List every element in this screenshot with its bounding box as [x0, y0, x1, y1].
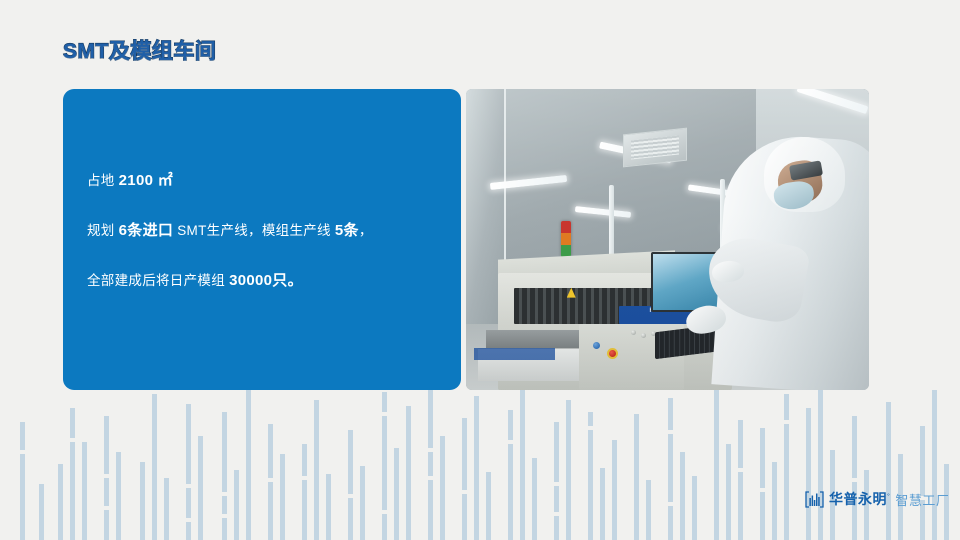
decor-bar — [508, 410, 513, 540]
decor-bar — [20, 422, 25, 540]
decor-bar — [406, 406, 411, 540]
decor-bar — [566, 400, 571, 540]
decor-bar — [520, 390, 525, 540]
info-line-1: 占地 2100 ㎡ — [87, 173, 447, 189]
decor-bar-gap — [104, 506, 109, 510]
decor-bar — [348, 430, 353, 540]
decor-bar-gap — [382, 510, 387, 514]
logo-brand-text: 华普永明° — [829, 489, 890, 509]
decor-bar — [588, 412, 593, 540]
decor-bar — [326, 474, 331, 540]
decor-bar — [714, 390, 719, 540]
decor-bar — [806, 408, 811, 540]
decor-bar — [82, 442, 87, 540]
decor-bar-gap — [70, 438, 75, 442]
decor-bar — [634, 414, 639, 540]
decor-bar — [932, 390, 937, 540]
decor-bar-gap — [20, 450, 25, 454]
decor-bar — [852, 416, 857, 540]
decor-bar-gap — [852, 478, 857, 482]
decor-bar-gap — [554, 512, 559, 516]
footer-logo: 华普永明° 智慧工厂 — [805, 489, 949, 509]
decor-bar-gap — [588, 426, 593, 430]
decor-bar-gap — [348, 494, 353, 498]
decor-bar-gap — [462, 490, 467, 494]
decor-bar — [268, 424, 273, 540]
decor-bar — [394, 448, 399, 540]
decor-bar — [58, 464, 63, 540]
decor-bar — [198, 436, 203, 540]
photo-haze-overlay — [466, 89, 869, 390]
decor-bar — [382, 392, 387, 540]
decor-bar — [280, 454, 285, 540]
decor-bar-gap — [760, 488, 765, 492]
decor-bar — [314, 400, 319, 540]
decor-bar — [462, 418, 467, 540]
decor-bar-gap — [554, 482, 559, 486]
decor-bar — [116, 452, 121, 540]
decor-bar-gap — [186, 518, 191, 522]
decor-bar — [920, 426, 925, 540]
cleanroom-photo: HELLER — [466, 89, 869, 390]
decor-bar-gap — [382, 412, 387, 416]
decor-bar — [474, 396, 479, 540]
decor-bar — [234, 470, 239, 540]
decor-bar — [246, 390, 251, 540]
decor-bar — [738, 420, 743, 540]
info-line-2: 规划 6条进口 SMT生产线，模组生产线 5条， — [87, 223, 447, 239]
decor-bar — [186, 404, 191, 540]
decor-bar-gap — [222, 492, 227, 496]
decor-bar — [600, 468, 605, 540]
decor-bar — [646, 480, 651, 540]
logo-brand-name: 华普永明 — [829, 491, 887, 507]
decor-bar — [886, 402, 891, 540]
decor-bar-gap — [104, 474, 109, 478]
decorative-bar-pattern — [0, 390, 960, 540]
decor-bar — [70, 408, 75, 540]
page-title: SMT及模组车间 — [63, 35, 216, 65]
decor-bar — [818, 390, 823, 540]
decor-bar-gap — [302, 476, 307, 480]
decor-bar-gap — [738, 468, 743, 472]
decor-bar-gap — [428, 448, 433, 452]
decor-bar-gap — [784, 420, 789, 424]
decor-bar — [428, 390, 433, 540]
decor-bar — [164, 478, 169, 540]
bracketed-bars-logo-icon — [805, 491, 824, 508]
decor-bar-gap — [668, 502, 673, 506]
decor-bar-gap — [428, 476, 433, 480]
decor-bar-gap — [668, 430, 673, 434]
decor-bar — [612, 440, 617, 540]
decor-bar — [39, 484, 44, 540]
logo-registered-mark: ° — [887, 493, 890, 500]
slide-canvas: SMT及模组车间 占地 2100 ㎡ 规划 6条进口 SMT生产线，模组生产线 … — [0, 0, 960, 540]
decor-bar — [668, 398, 673, 540]
info-card: 占地 2100 ㎡ 规划 6条进口 SMT生产线，模组生产线 5条， 全部建成后… — [63, 89, 461, 390]
decor-bar — [784, 394, 789, 540]
info-card-lines: 占地 2100 ㎡ 规划 6条进口 SMT生产线，模组生产线 5条， 全部建成后… — [87, 173, 447, 289]
decor-bar-gap — [222, 514, 227, 518]
decor-bar — [760, 428, 765, 540]
decor-bar — [486, 472, 491, 540]
decor-bar — [680, 452, 685, 540]
decor-bar-gap — [268, 478, 273, 482]
decor-bar — [104, 416, 109, 540]
decor-bar — [360, 466, 365, 540]
decor-bar — [152, 394, 157, 540]
logo-sub-brand: 智慧工厂 — [895, 490, 949, 509]
decor-bar — [726, 444, 731, 540]
info-line-3: 全部建成后将日产模组 30000只。 — [87, 273, 447, 289]
decor-bar — [772, 462, 777, 540]
decor-bar — [440, 436, 445, 540]
decor-bar-gap — [186, 484, 191, 488]
decor-bar — [692, 476, 697, 540]
decor-bar — [302, 444, 307, 540]
decor-bar — [222, 412, 227, 540]
decor-bar — [140, 462, 145, 540]
decor-bar-gap — [508, 440, 513, 444]
decor-bar — [554, 422, 559, 540]
decor-bar — [532, 458, 537, 540]
